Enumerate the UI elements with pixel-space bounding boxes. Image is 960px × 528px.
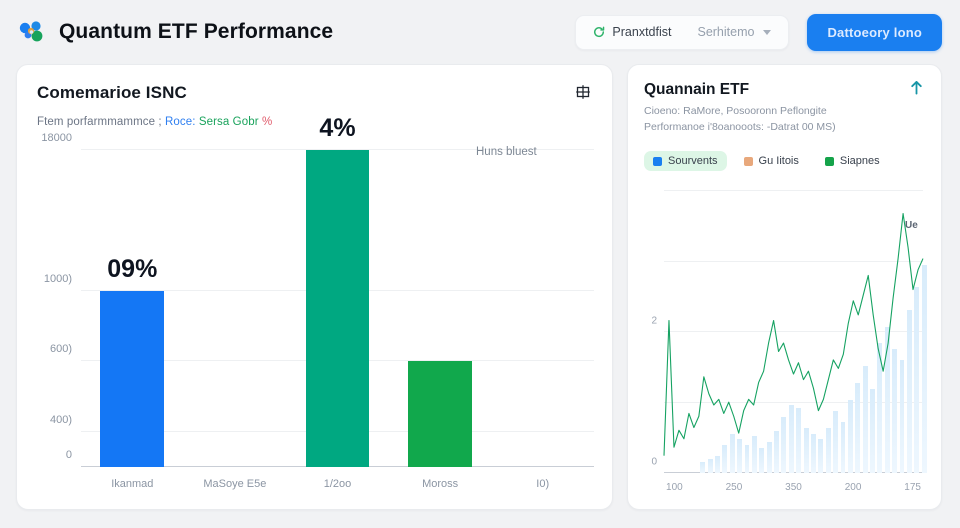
quantum-cluster-logo-icon bbox=[16, 17, 46, 47]
x-axis-tick: 200 bbox=[845, 482, 862, 493]
x-axis-tick: 1/2oo bbox=[324, 478, 352, 490]
bar-value-label: 4% bbox=[319, 114, 355, 143]
legend-chip[interactable]: Sourvents bbox=[644, 151, 727, 171]
header-action-group: Pranxtdfist Serhitemo bbox=[575, 15, 789, 50]
x-axis-tick: 350 bbox=[785, 482, 802, 493]
refresh-label: Pranxtdfist bbox=[612, 25, 671, 39]
subtitle-red: % bbox=[262, 116, 272, 128]
left-card-subtitle: Ftem porfarmmammce ; Roce: Sersa Gobr % bbox=[37, 116, 592, 128]
right-card-subtitle-line1: Cioeno: RaMore, Posooronn Peflongite bbox=[644, 104, 925, 119]
chart-legend: SourventsGu IitoisSiapnes bbox=[628, 135, 941, 171]
y-axis-tick: 0 bbox=[66, 449, 72, 461]
app-header: Quantum ETF Performance Pranxtdfist Serh… bbox=[0, 0, 960, 64]
bar[interactable] bbox=[408, 361, 472, 467]
legend-label: Gu Iitois bbox=[759, 155, 799, 167]
subtitle-green: Sersa Gobr bbox=[199, 116, 259, 128]
legend-swatch-icon bbox=[653, 157, 662, 166]
bar-chart-plot: 0400)600)1000)18000IkanmadMaSoye E5e1/2o… bbox=[81, 150, 594, 467]
page-title: Quantum ETF Performance bbox=[59, 20, 333, 44]
left-card-title: Comemarioe ISNC bbox=[37, 83, 592, 103]
x-axis-tick: 175 bbox=[904, 482, 921, 493]
line-chart: 02100250350200175Ue bbox=[638, 181, 929, 505]
main-content: Comemarioe ISNC Ftem porfarmmammce ; Roc… bbox=[0, 64, 960, 528]
line-chart-plot: 02100250350200175Ue bbox=[664, 191, 923, 473]
legend-label: Sourvents bbox=[668, 155, 718, 167]
chart-side-note: Huns bluest bbox=[476, 146, 537, 158]
subtitle-blue: Roce: bbox=[165, 116, 196, 128]
trending-up-icon bbox=[908, 79, 925, 96]
legend-swatch-icon bbox=[744, 157, 753, 166]
x-axis-tick: MaSoye E5e bbox=[203, 478, 266, 490]
right-card-title: Quannain ETF bbox=[644, 81, 925, 99]
chevron-down-icon bbox=[763, 30, 771, 35]
y-axis-tick: 2 bbox=[651, 316, 657, 327]
refresh-button[interactable]: Pranxtdfist bbox=[580, 18, 684, 47]
x-axis-tick: I0) bbox=[536, 478, 549, 490]
bar-value-label: 09% bbox=[107, 255, 157, 284]
grid-icon[interactable] bbox=[574, 83, 592, 101]
subtitle-prefix: Ftem porfarmmammce ; bbox=[37, 116, 162, 128]
x-axis-tick: 100 bbox=[666, 482, 683, 493]
y-axis-tick: 600) bbox=[50, 343, 72, 355]
settings-dropdown[interactable]: Serhitemo bbox=[684, 18, 784, 47]
quantum-etf-card: Quannain ETF Cioeno: RaMore, Posooronn P… bbox=[627, 64, 942, 510]
x-axis-tick: 250 bbox=[726, 482, 743, 493]
legend-chip[interactable]: Gu Iitois bbox=[735, 151, 808, 171]
bar[interactable]: 4% bbox=[306, 150, 370, 467]
y-axis-tick: 1000) bbox=[44, 273, 72, 285]
refresh-icon bbox=[593, 26, 605, 38]
brand: Quantum ETF Performance bbox=[16, 17, 333, 47]
left-card-header: Comemarioe ISNC Ftem porfarmmammce ; Roc… bbox=[17, 65, 612, 128]
legend-label: Siapnes bbox=[840, 155, 880, 167]
comparative-performance-card: Comemarioe ISNC Ftem porfarmmammce ; Roc… bbox=[16, 64, 613, 510]
y-axis-tick: 18000 bbox=[41, 132, 72, 144]
y-axis-tick: 400) bbox=[50, 414, 72, 426]
y-axis-tick: 0 bbox=[651, 457, 657, 468]
right-card-subtitle-line2: Performanoe i'8oanooots: -Datrat 00 MS) bbox=[644, 120, 925, 135]
x-axis-tick: Ikanmad bbox=[111, 478, 153, 490]
app-root: Quantum ETF Performance Pranxtdfist Serh… bbox=[0, 0, 960, 528]
bar-chart: 0400)600)1000)18000IkanmadMaSoye E5e1/2o… bbox=[23, 136, 602, 503]
bar[interactable]: 09% bbox=[100, 291, 164, 467]
peak-annotation: Ue bbox=[905, 220, 918, 231]
legend-chip[interactable]: Siapnes bbox=[816, 151, 889, 171]
header-actions: Pranxtdfist Serhitemo Dattoeory lono bbox=[575, 14, 942, 51]
price-line-series bbox=[664, 191, 923, 473]
x-axis-tick: Moross bbox=[422, 478, 458, 490]
settings-label: Serhitemo bbox=[697, 25, 754, 39]
right-card-header: Quannain ETF Cioeno: RaMore, Posooronn P… bbox=[628, 65, 941, 135]
legend-swatch-icon bbox=[825, 157, 834, 166]
primary-action-button[interactable]: Dattoeory lono bbox=[807, 14, 942, 51]
